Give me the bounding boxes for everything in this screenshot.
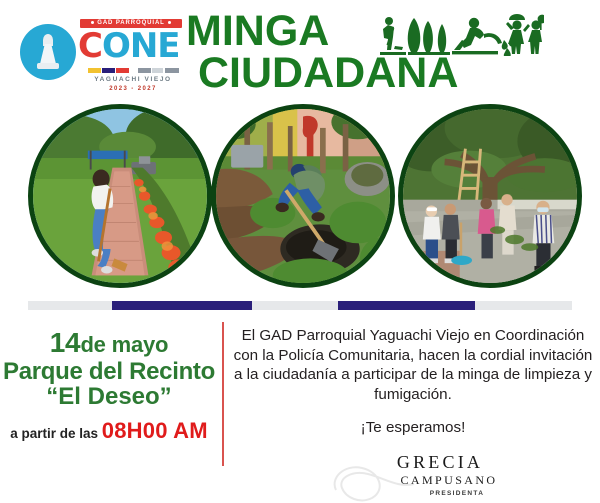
signature-block: GRECIA CAMPUSANO PRESIDENTA (340, 452, 540, 499)
photo-group-under-tree (398, 104, 582, 288)
activity-pictograms (376, 12, 544, 56)
event-time-prefix: a partir de las (10, 426, 98, 441)
event-place-line-1: Parque del Recinto (0, 359, 218, 384)
logo-color-bars (88, 68, 180, 73)
photo-digging-soil (211, 104, 395, 288)
poster-root: GAD PARROQUIAL CONE YAGUACHI VIEJO 2023 … (0, 0, 600, 503)
title-block: MINGA CIUDADANA (186, 6, 586, 98)
event-month: de mayo (80, 332, 168, 357)
divider-segment-1 (112, 301, 252, 310)
event-day: 14 (50, 327, 81, 358)
person-raking-icon (380, 17, 406, 55)
event-place-line-2: “El Deseo” (0, 384, 218, 409)
logo-period: 2023 - 2027 (78, 86, 188, 92)
divider-segment-2 (338, 301, 475, 310)
person-planting-icon (452, 18, 516, 56)
invitation-message: El GAD Parroquial Yaguachi Viejo en Coor… (232, 326, 594, 436)
people-celebrating-icon (506, 14, 544, 54)
photo-sweeping-path (28, 104, 212, 288)
event-time-row: a partir de las 08H00 AM (0, 420, 218, 445)
logo-parish-name: YAGUACHI VIEJO (78, 76, 188, 83)
tree-icons (408, 18, 450, 55)
event-date: 14de mayo (0, 330, 218, 358)
logo-wordmark: CONE (78, 28, 186, 64)
poster-header: GAD PARROQUIAL CONE YAGUACHI VIEJO 2023 … (0, 0, 600, 100)
logo-wordmark-one: ONE (102, 26, 180, 66)
message-paragraph: El GAD Parroquial Yaguachi Viejo en Coor… (232, 326, 594, 404)
handwritten-signature-icon (328, 460, 418, 502)
logo-wordmark-c: C (78, 26, 102, 66)
event-details: 14de mayo Parque del Recinto “El Deseo” … (0, 330, 218, 445)
title-line-1: MINGA (186, 8, 329, 54)
event-time: 08H00 AM (102, 418, 208, 443)
title-line-2: CIUDADANA (198, 50, 458, 96)
divider-bar (28, 301, 572, 310)
vertical-divider-line (222, 322, 224, 466)
gad-parroquial-logo: GAD PARROQUIAL CONE YAGUACHI VIEJO 2023 … (12, 8, 184, 94)
logo-tower-icon (39, 34, 57, 72)
message-closing: ¡Te esperamos! (232, 419, 594, 436)
photo-strip (0, 104, 600, 296)
